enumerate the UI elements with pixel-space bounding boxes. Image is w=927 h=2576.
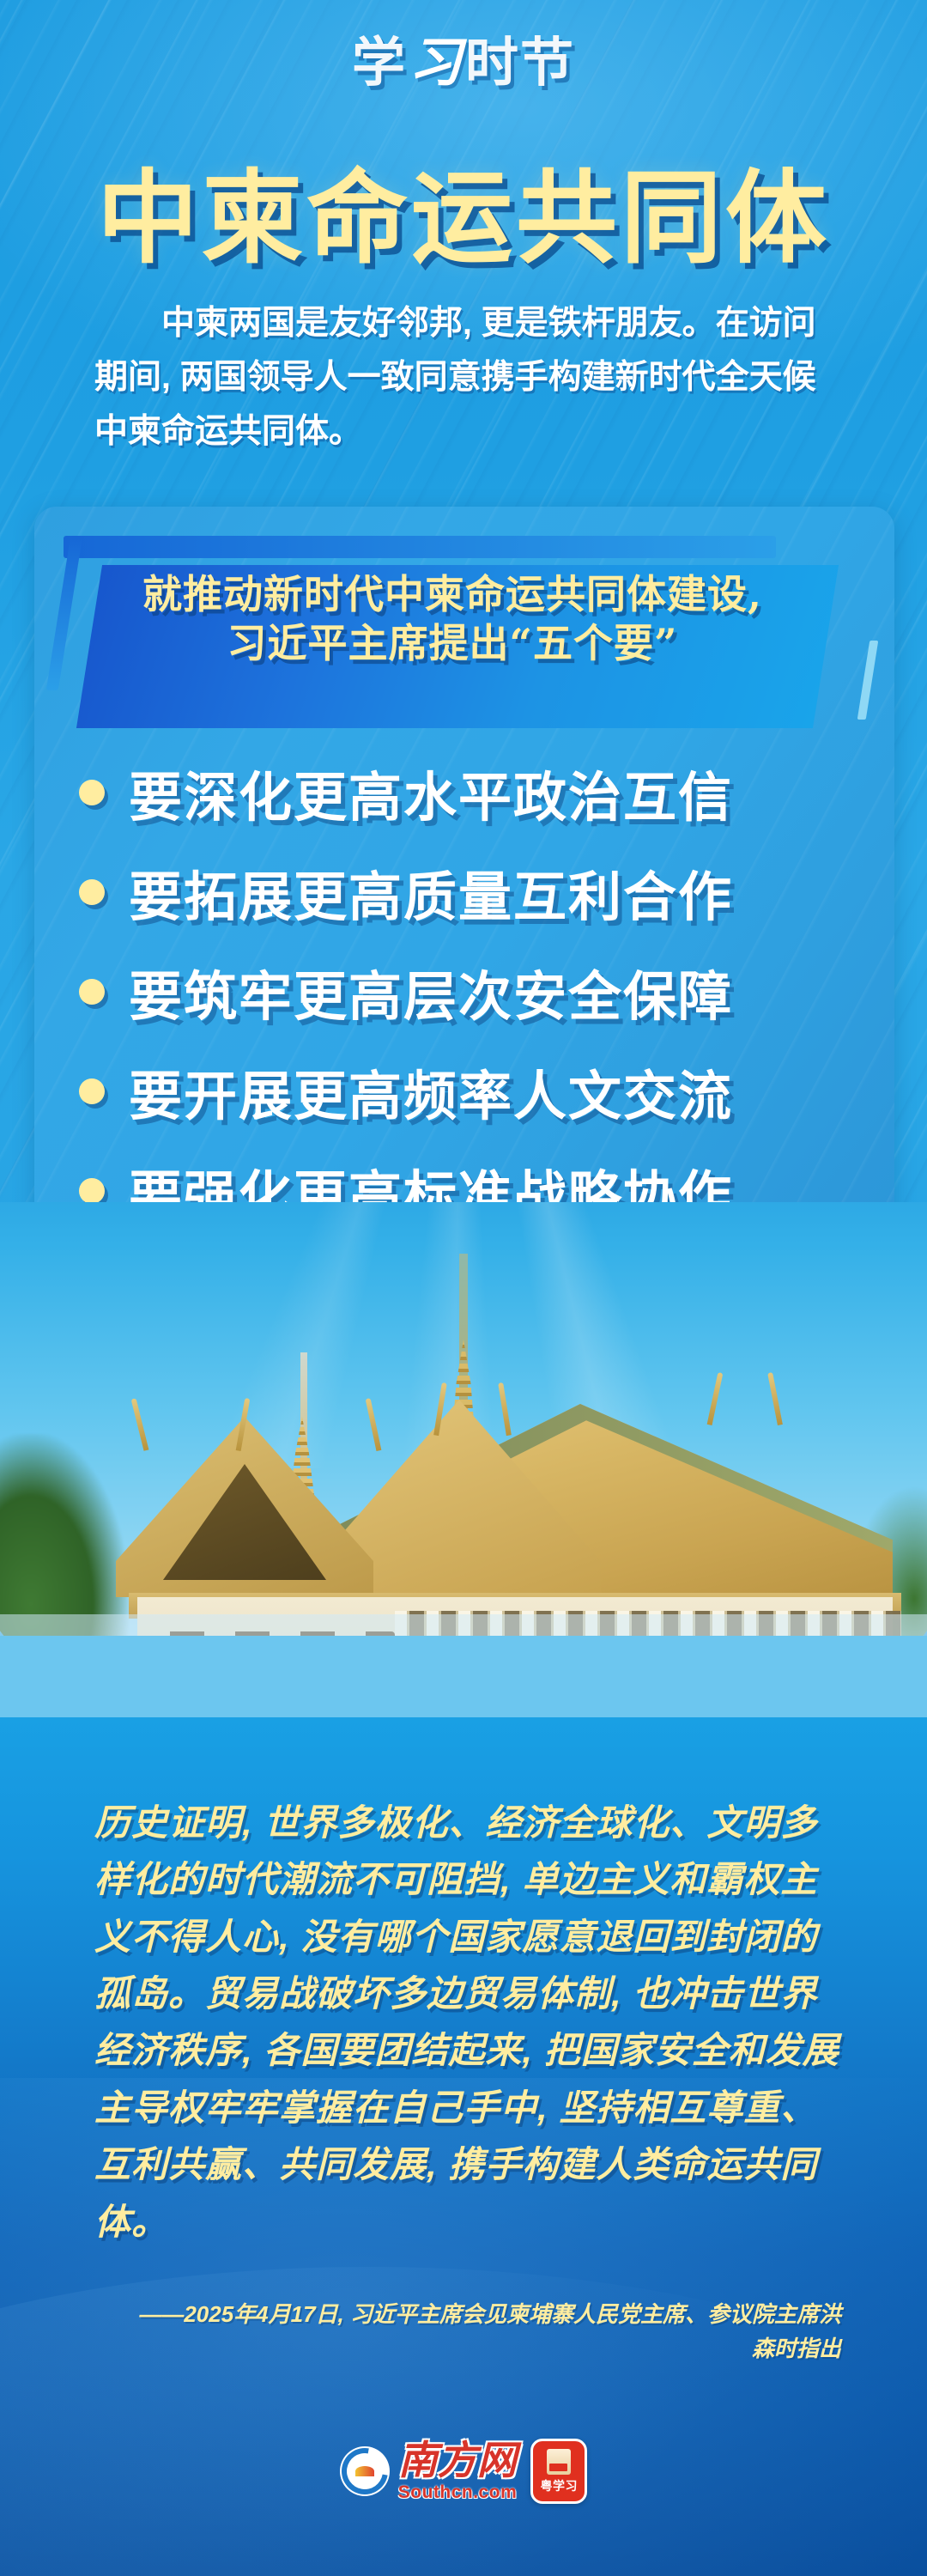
brand-logo-char-1: 学 <box>352 31 407 94</box>
roof-finial-icon <box>707 1372 724 1425</box>
brand-logo-char-2: 习 <box>407 31 465 94</box>
list-item: 要拓展更高质量互利合作 <box>34 848 894 936</box>
southcn-logo-en: Southcn.com <box>398 2482 518 2503</box>
banner-text: 就推动新时代中柬命运共同体建设, 习近平主席提出“五个要” <box>64 570 841 667</box>
bullet-dot-icon <box>79 979 105 1005</box>
roof-finial-icon <box>366 1398 382 1451</box>
card-banner: 就推动新时代中柬命运共同体建设, 习近平主席提出“五个要” <box>64 541 841 728</box>
list-item-label: 要深化更高水平政治互信 <box>129 754 733 831</box>
southcn-logo[interactable]: 南方网 Southcn.com <box>340 2440 518 2503</box>
list-item-label: 要筑牢更高层次安全保障 <box>129 953 733 1030</box>
brand-logo-char-3: 时节 <box>465 31 575 94</box>
list-item: 要深化更高水平政治互信 <box>34 749 894 836</box>
lead-paragraph: 中柬两国是友好邻邦, 更是铁杆朋友。在访问期间, 两国领导人一致同意携手构建新时… <box>94 296 845 459</box>
list-item-label: 要拓展更高质量互利合作 <box>129 854 733 931</box>
banner-outline-top <box>64 536 776 558</box>
southcn-mark-icon <box>340 2446 390 2496</box>
brand-logo-text: 学习时节 <box>352 19 575 96</box>
page-title: 中柬命运共同体 <box>0 136 927 283</box>
five-points-list: 要深化更高水平政治互信 要拓展更高质量互利合作 要筑牢更高层次安全保障 要开展更… <box>34 749 894 1247</box>
southcn-logo-cn: 南方网 <box>398 2440 517 2480</box>
list-item: 要筑牢更高层次安全保障 <box>34 948 894 1036</box>
bullet-dot-icon <box>79 780 105 805</box>
bullet-dot-icon <box>79 1078 105 1104</box>
quote-text: 历史证明, 世界多极化、经济全球化、文明多样化的时代潮流不可阻挡, 单边主义和霸… <box>94 1795 850 2251</box>
list-item: 要开展更高频率人文交流 <box>34 1048 894 1135</box>
infographic-poster: 学习时节 中柬命运共同体 中柬两国是友好邻邦, 更是铁杆朋友。在访问期间, 两国… <box>0 0 927 2576</box>
roof-finial-icon <box>131 1398 149 1451</box>
list-item-label: 要开展更高频率人文交流 <box>129 1053 733 1130</box>
yuexuexi-app-icon[interactable]: 粤学习 <box>530 2439 587 2504</box>
southcn-logo-text: 南方网 Southcn.com <box>398 2440 518 2503</box>
roof-finial-icon <box>767 1372 783 1425</box>
banner-line-1: 就推动新时代中柬命运共同体建设, <box>64 570 841 619</box>
footer-logos: 南方网 Southcn.com 粤学习 <box>0 2439 927 2504</box>
brand-logo: 学习时节 <box>0 19 927 96</box>
roof-finial-icon <box>498 1382 512 1436</box>
bullet-dot-icon <box>79 1178 105 1204</box>
yuexuexi-app-label: 粤学习 <box>541 2477 579 2494</box>
yuexuexi-book-icon <box>547 2449 571 2475</box>
banner-line-2: 习近平主席提出“五个要” <box>64 619 841 668</box>
five-points-card: 就推动新时代中柬命运共同体建设, 习近平主席提出“五个要” 要深化更高水平政治互… <box>34 507 894 1247</box>
quote-attribution: ——2025年4月17日, 习近平主席会见柬埔寨人民党主席、参议院主席洪森时指出 <box>129 2298 841 2366</box>
bullet-dot-icon <box>79 879 105 905</box>
